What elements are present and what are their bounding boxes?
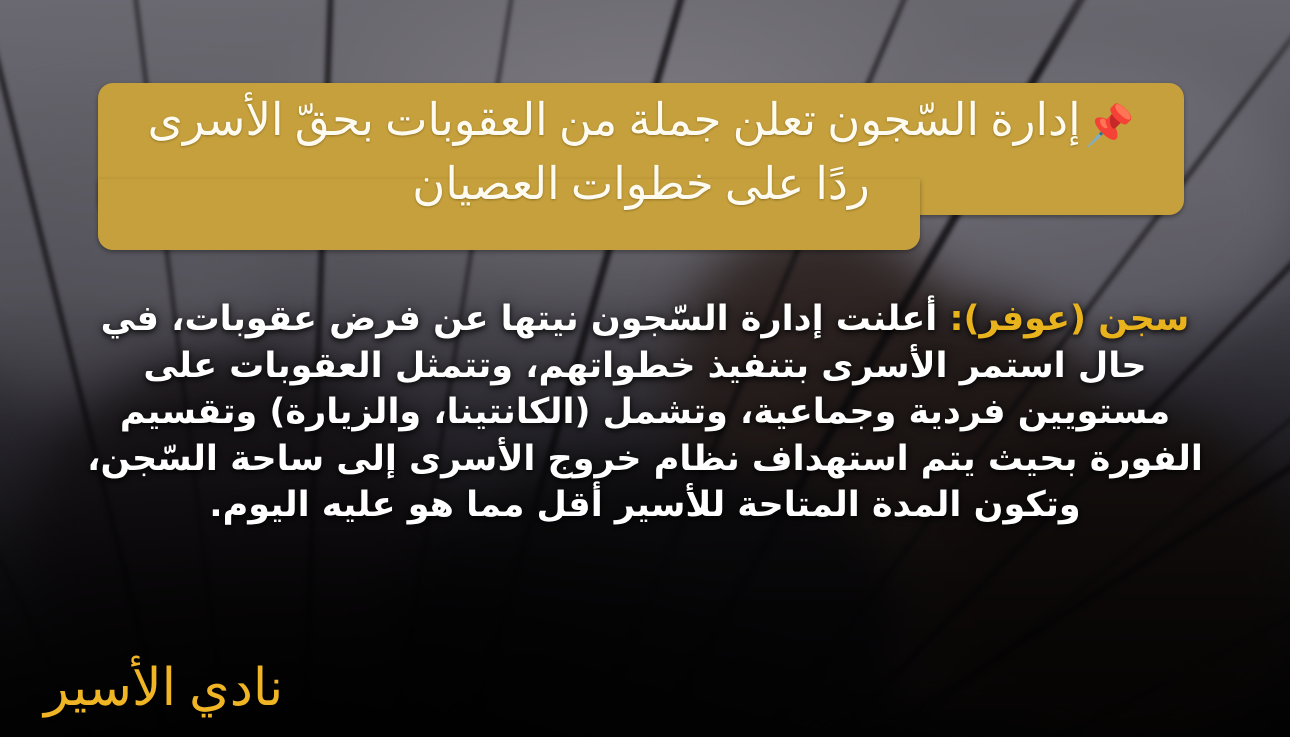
- headline-banner: 📌إدارة السّجون تعلن جملة من العقوبات بحق…: [98, 83, 1184, 250]
- headline-line-1-text: إدارة السّجون تعلن جملة من العقوبات بحقّ…: [148, 95, 1081, 145]
- footer-signature: نادي الأسير: [44, 663, 283, 715]
- body-lede: سجن (عوفر):: [949, 299, 1189, 339]
- headline-line-2: ردًا على خطوات العصيان: [412, 153, 869, 217]
- pushpin-icon: 📌: [1085, 103, 1135, 148]
- headline-line-1: 📌إدارة السّجون تعلن جملة من العقوبات بحق…: [148, 89, 1135, 153]
- news-card: 📌إدارة السّجون تعلن جملة من العقوبات بحق…: [0, 0, 1290, 737]
- headline-text-block: 📌إدارة السّجون تعلن جملة من العقوبات بحق…: [98, 83, 1184, 250]
- body-paragraph: سجن (عوفر): أعلنت إدارة السّجون نيتها عن…: [86, 296, 1204, 529]
